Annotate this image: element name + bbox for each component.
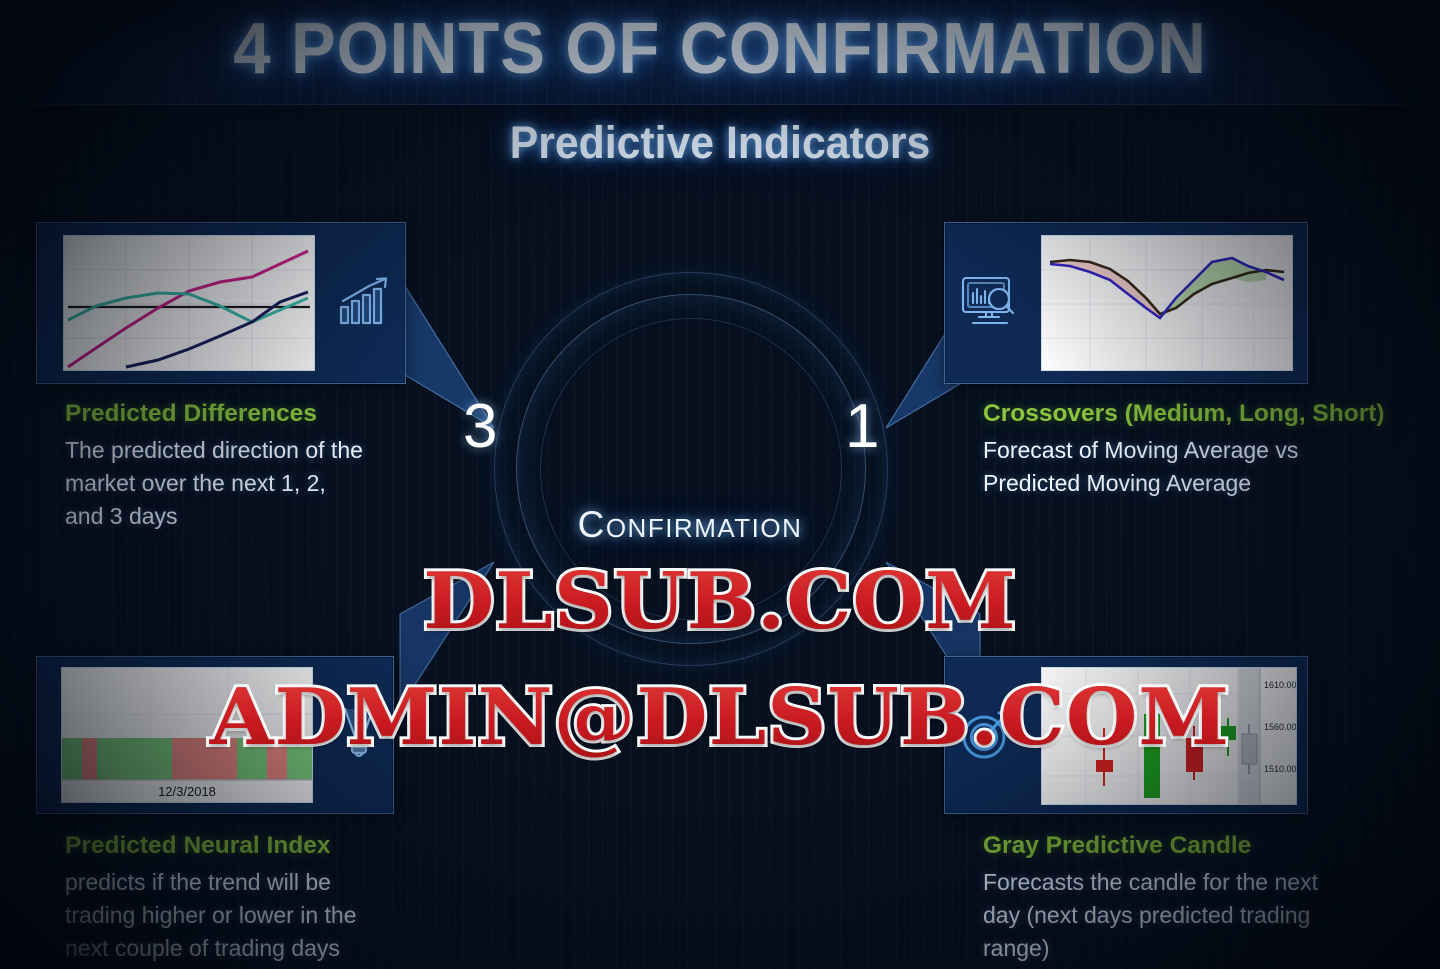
- watermark-email-fill: ADMIN@DLSUB.COM: [0, 672, 1440, 763]
- watermark-site-fill: DLSUB.COM: [0, 556, 1440, 647]
- slide-canvas: Confirmation 4 POINTS OF CONFIRMATION Pr…: [0, 0, 1440, 969]
- background-vignette: [0, 0, 1440, 969]
